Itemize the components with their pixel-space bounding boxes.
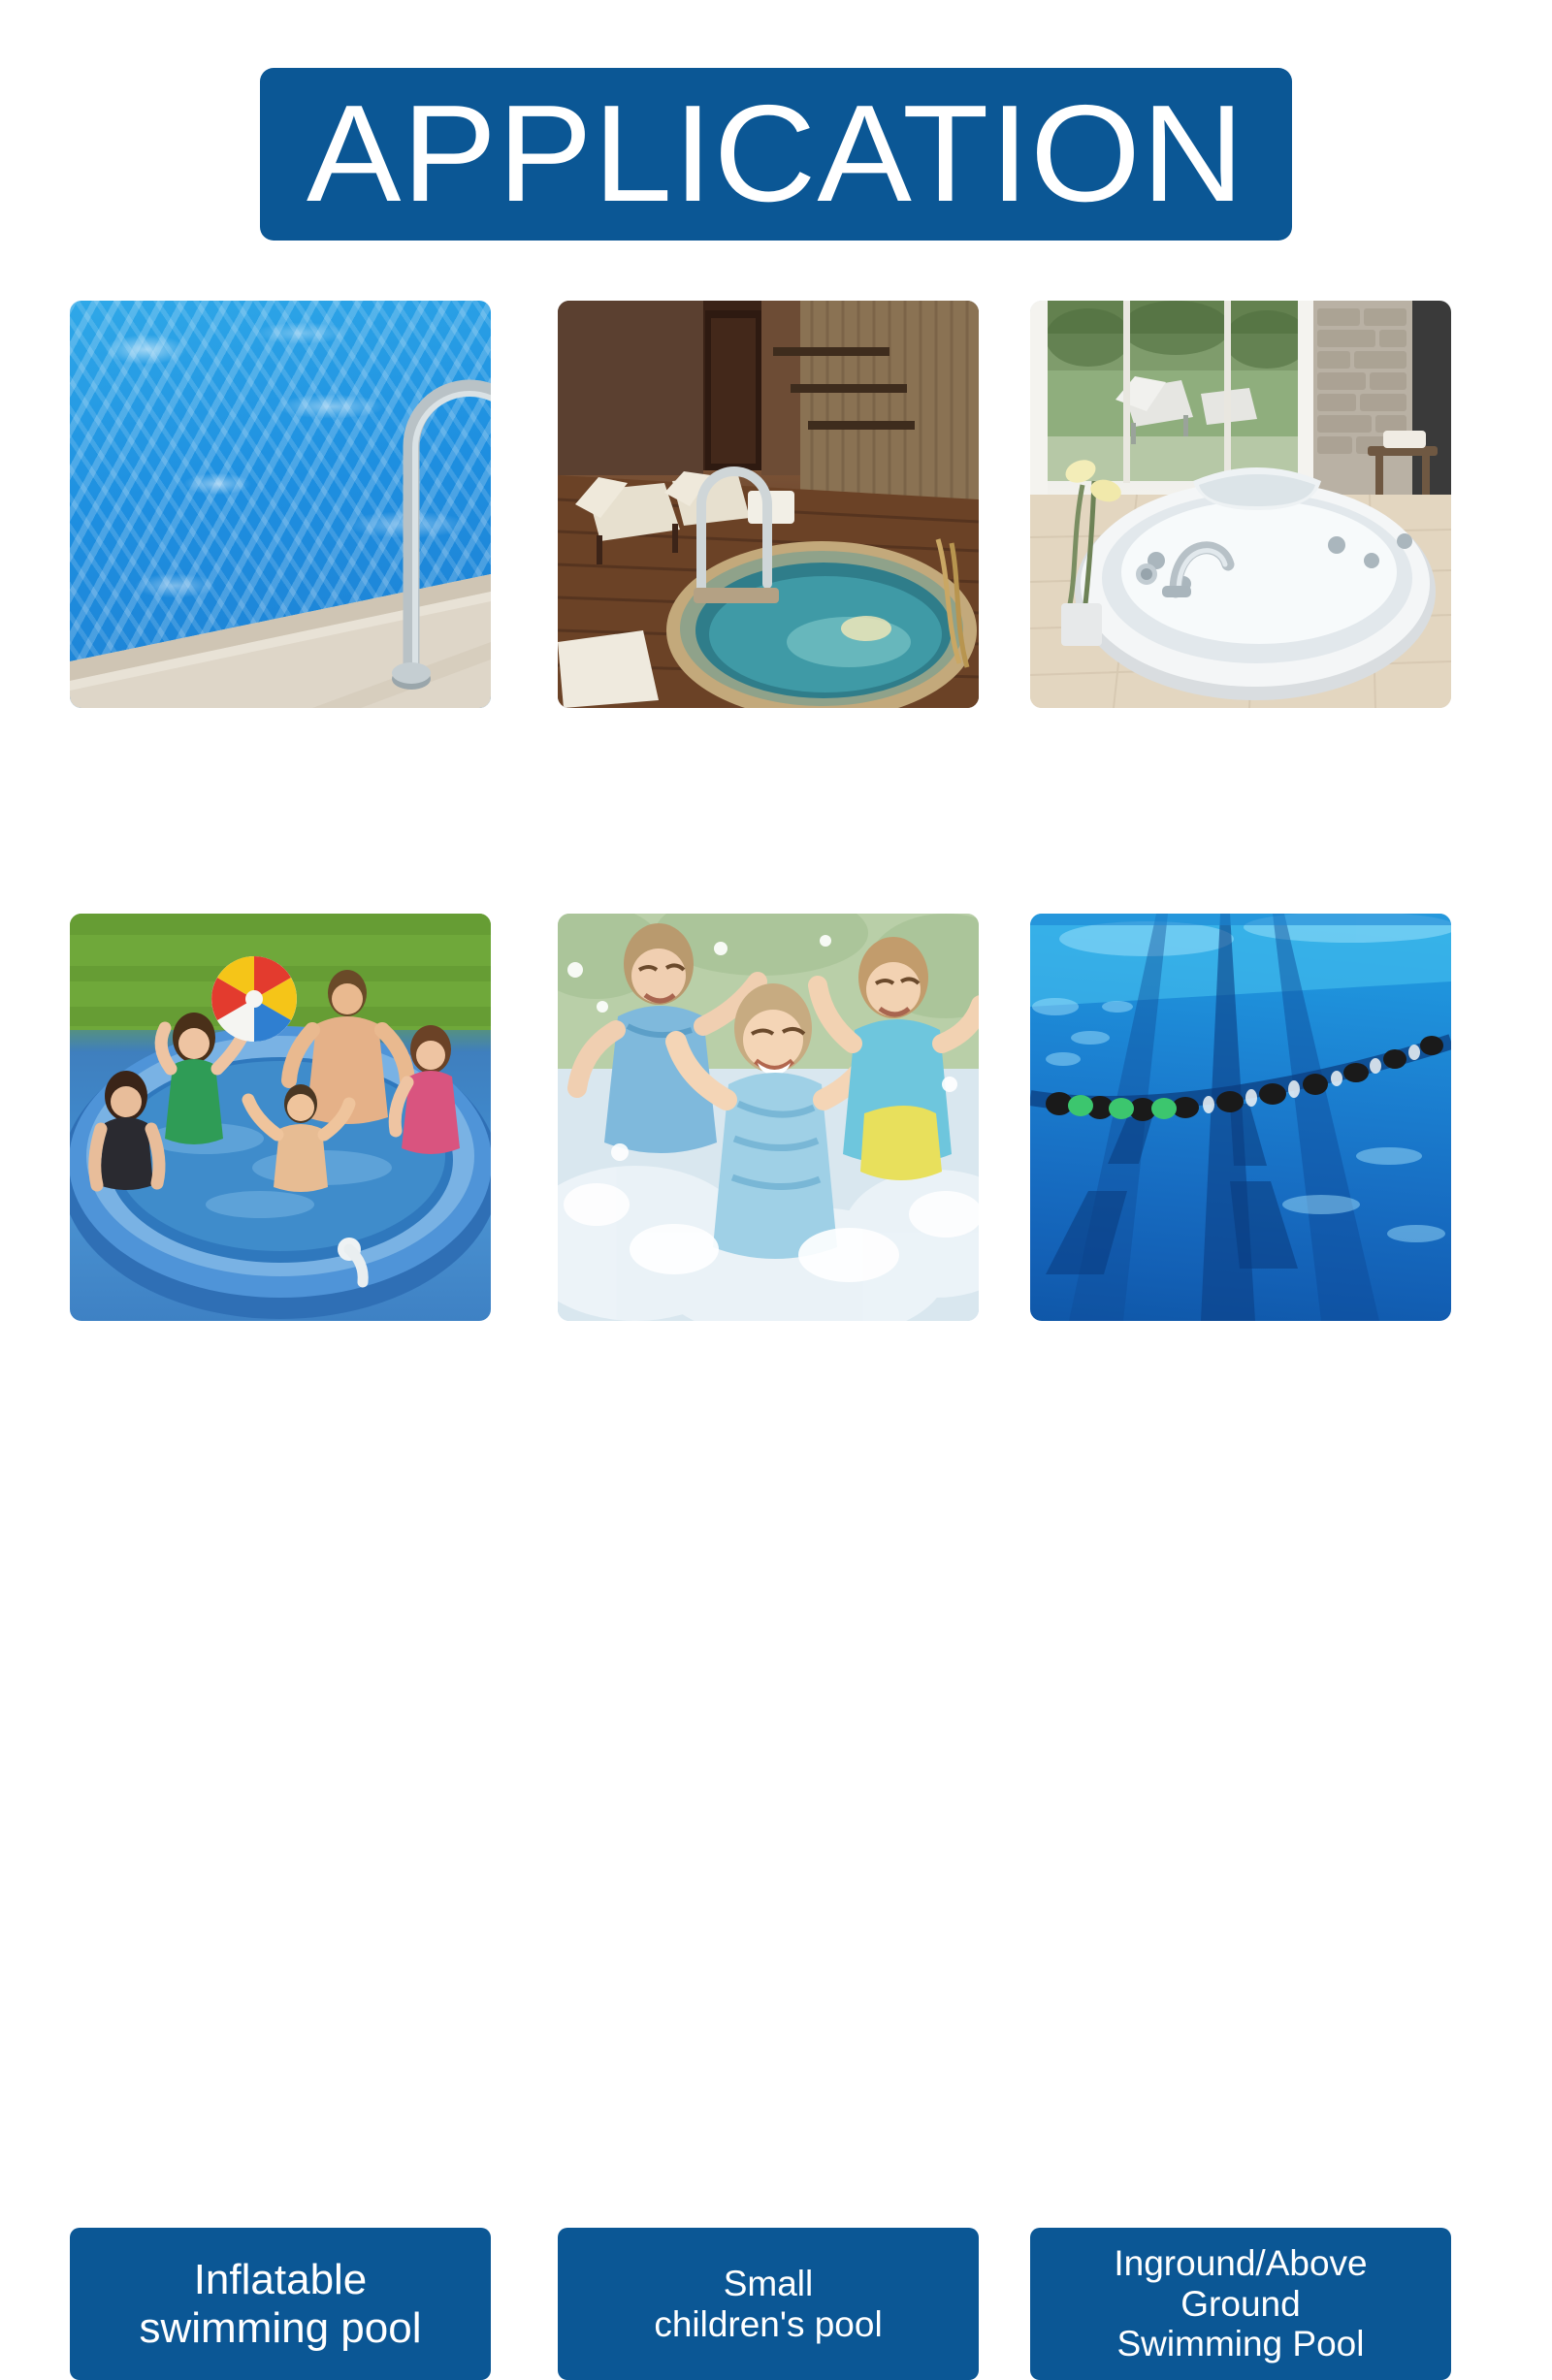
card-label-line: Ground	[1114, 2284, 1367, 2324]
card-label-text: Inground/Above Ground Swimming Pool	[1114, 2243, 1367, 2364]
card-label-text: Inflatable swimming pool	[140, 2256, 422, 2352]
card-label-small-childrens-pool: Small children's pool	[558, 2228, 979, 2380]
card-image-inflatable-swimming-pool	[70, 914, 491, 1321]
inground-pool-photo-art	[1030, 914, 1451, 1321]
hot-tub-illustration	[1030, 301, 1451, 708]
card-label-line: Inflatable	[140, 2256, 422, 2303]
swimming-pool-photo-art	[70, 301, 491, 708]
children-pool-illustration	[558, 914, 979, 1321]
inground-pool-illustration	[1030, 914, 1451, 1321]
hot-tub-photo-art	[1030, 301, 1451, 708]
card-image-inground-pool	[1030, 914, 1451, 1321]
card-label-line: Inground/Above	[1114, 2243, 1367, 2283]
spa-photo-art	[558, 301, 979, 708]
card-image-spa	[558, 301, 979, 708]
card-label-line: Small	[654, 2264, 882, 2303]
card-label-line: swimming pool	[140, 2304, 422, 2352]
swimming-pool-illustration	[70, 301, 491, 708]
inflatable-pool-photo-art	[70, 914, 491, 1321]
card-label-line: Swimming Pool	[1114, 2324, 1367, 2364]
children-pool-photo-art	[558, 914, 979, 1321]
card-image-swimming-pool	[70, 301, 491, 708]
application-card-grid: Swimming pool	[0, 0, 1552, 1552]
card-label-text: Small children's pool	[654, 2264, 882, 2344]
card-label-line: children's pool	[654, 2304, 882, 2344]
spa-illustration	[558, 301, 979, 708]
card-image-small-childrens-pool	[558, 914, 979, 1321]
card-image-hot-tub	[1030, 301, 1451, 708]
card-label-inflatable-swimming-pool: Inflatable swimming pool	[70, 2228, 491, 2380]
inflatable-pool-illustration	[70, 914, 491, 1321]
card-label-inground-above-ground-swimming-pool: Inground/Above Ground Swimming Pool	[1030, 2228, 1451, 2380]
